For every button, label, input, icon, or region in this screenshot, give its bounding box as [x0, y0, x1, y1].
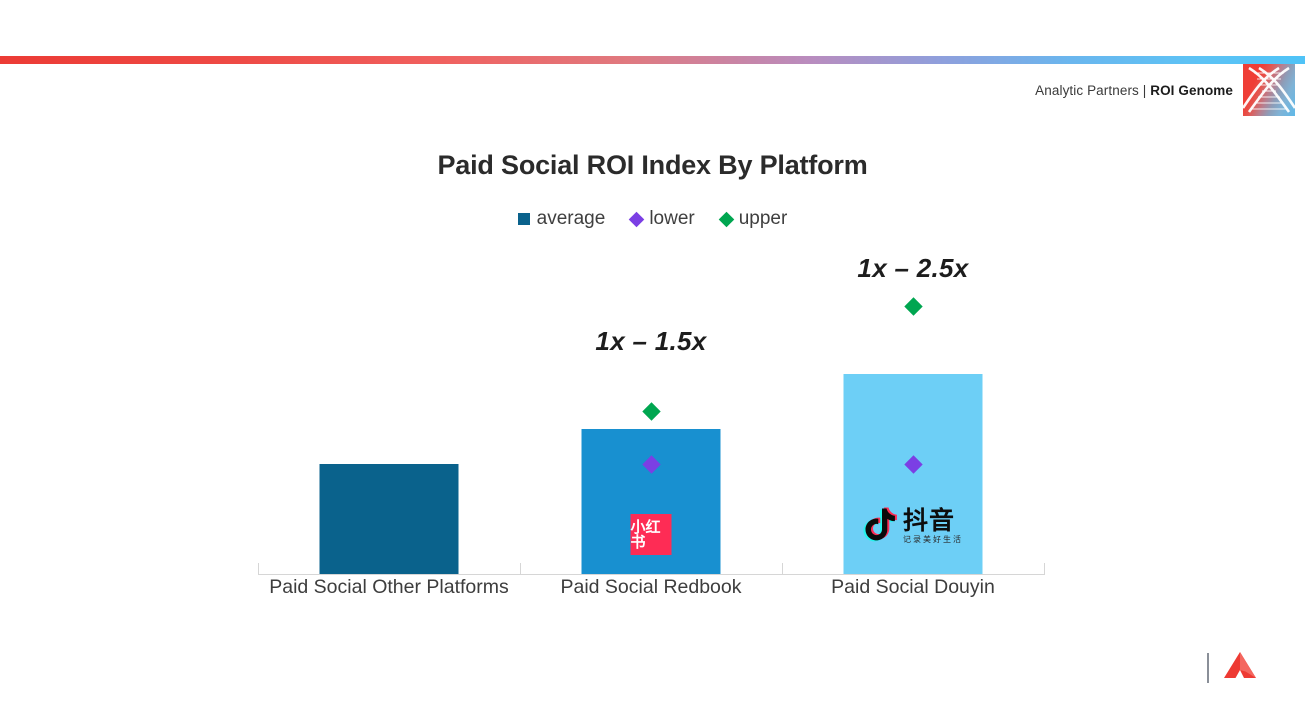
category-label-douyin: Paid Social Douyin: [782, 576, 1044, 599]
brand-separator: |: [1143, 83, 1147, 98]
roi-bar-chart: Paid Social ROI Index By Platform averag…: [0, 120, 1305, 620]
xiaohongshu-logo-tile: 小红书: [631, 514, 672, 555]
brand-company-name: Analytic Partners: [1035, 83, 1139, 98]
brand-product-name: ROI Genome: [1150, 83, 1233, 98]
marker-upper-redbook[interactable]: [642, 402, 660, 420]
brand-text: Analytic Partners | ROI Genome: [1035, 83, 1233, 98]
marker-upper-douyin[interactable]: [904, 297, 922, 315]
dna-helix-icon: [1243, 64, 1295, 116]
footer-divider: [1207, 653, 1209, 683]
douyin-wordmark-subtext: 记录美好生活: [903, 536, 963, 544]
header-gradient-rule: [0, 56, 1305, 64]
footer-brand-mark: [1207, 651, 1257, 684]
category-label-redbook: Paid Social Redbook: [520, 576, 782, 599]
bar-group-douyin: 1x – 2.5x 抖音 记录美好生活: [782, 119, 1044, 574]
category-label-other-platforms: Paid Social Other Platforms: [258, 576, 520, 599]
douyin-wordmark: 抖音 记录美好生活: [903, 508, 963, 544]
douyin-wordmark-text: 抖音: [903, 508, 963, 533]
annotation-douyin: 1x – 2.5x: [857, 253, 968, 284]
plot-area: 1x – 1.5x 小红书 1x – 2.5x: [258, 120, 1045, 575]
douyin-logo: 抖音 记录美好生活: [863, 504, 963, 547]
bar-group-other-platforms: [258, 119, 520, 574]
xiaohongshu-logo: 小红书: [631, 514, 672, 555]
bar-other-platforms[interactable]: [320, 464, 459, 574]
brand-header: Analytic Partners | ROI Genome: [1035, 64, 1295, 116]
bar-group-redbook: 1x – 1.5x 小红书: [520, 119, 782, 574]
xiaohongshu-logo-text: 小红书: [631, 520, 672, 550]
x-axis-line: [258, 574, 1045, 575]
x-axis-category-labels: Paid Social Other Platforms Paid Social …: [258, 576, 1045, 599]
axis-tick: [1044, 563, 1045, 575]
douyin-logo-group: 抖音 记录美好生活: [863, 504, 963, 547]
red-triangle-logo-icon: [1223, 651, 1257, 684]
annotation-redbook: 1x – 1.5x: [595, 326, 706, 357]
douyin-note-icon: [863, 504, 897, 547]
